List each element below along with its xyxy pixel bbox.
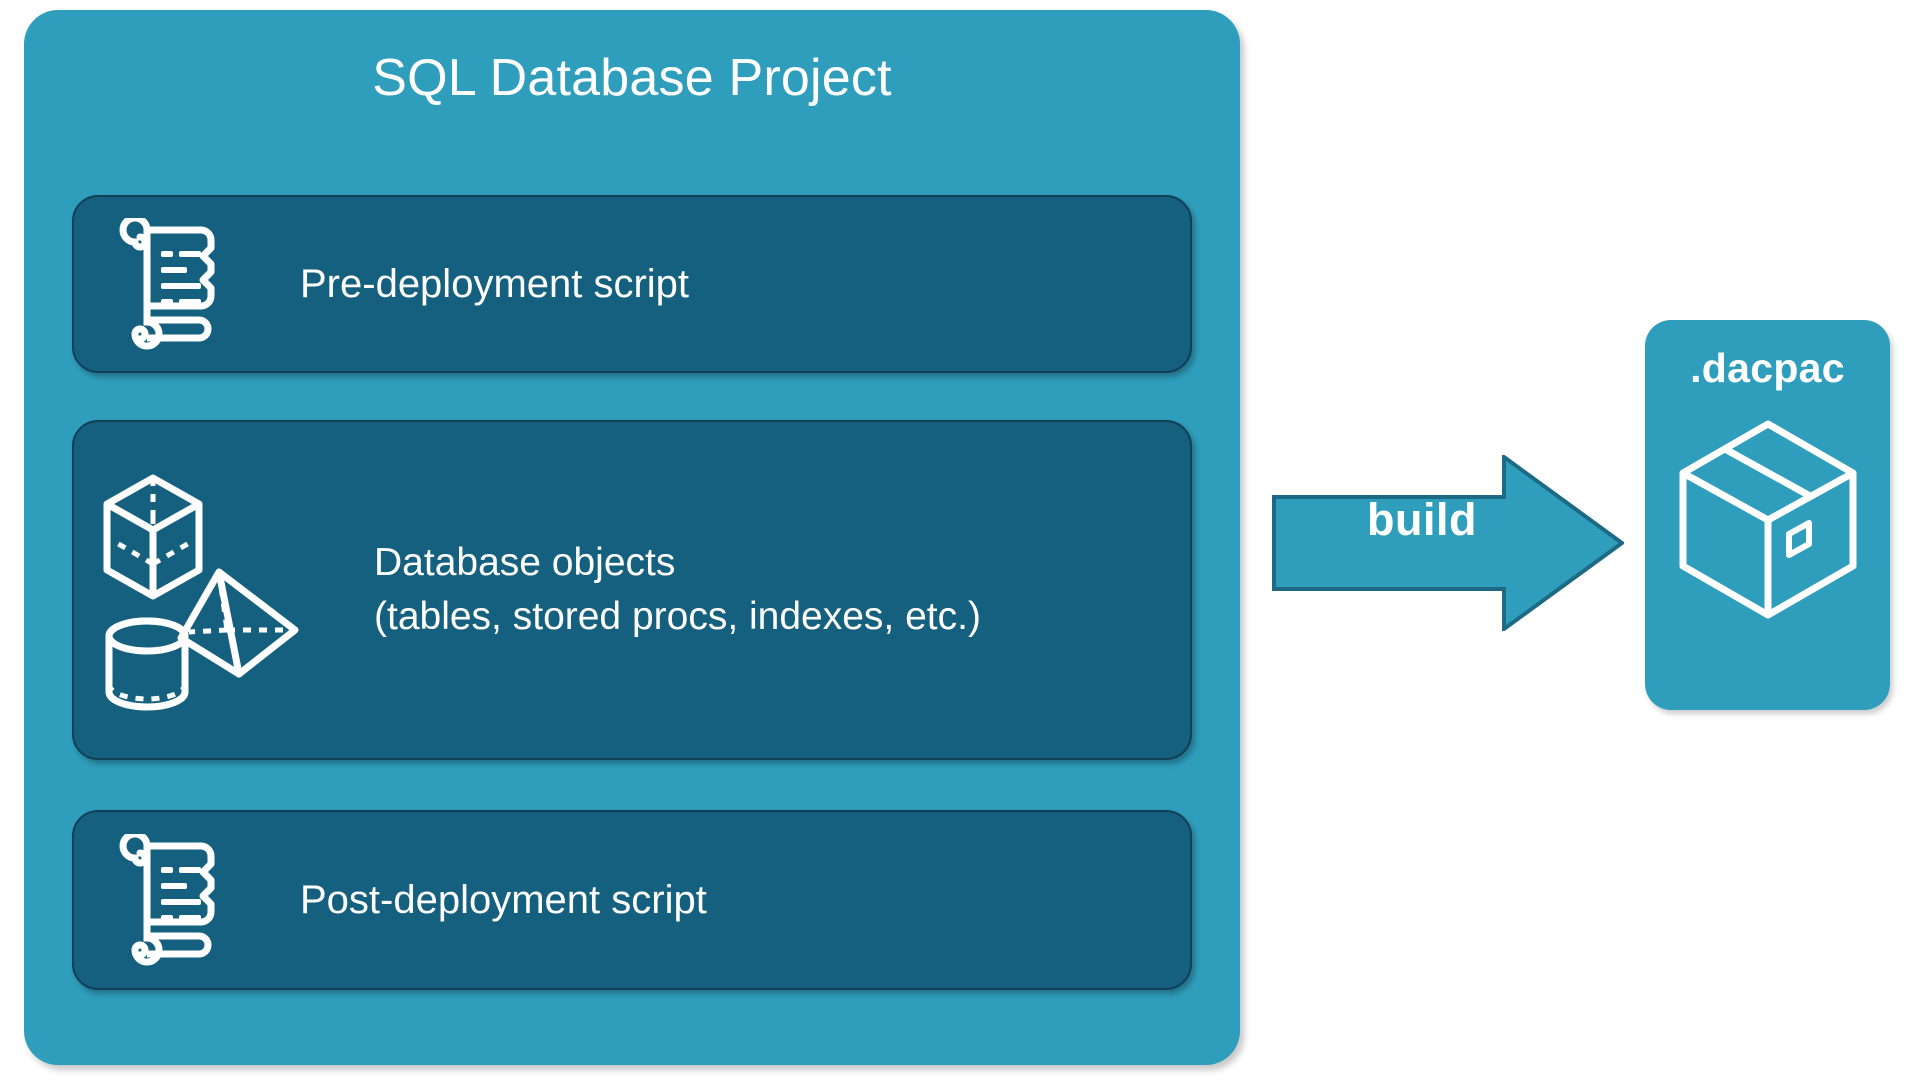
card-database-objects-label-line2: (tables, stored procs, indexes, etc.) — [374, 590, 981, 644]
dacpac-output-panel[interactable]: .dacpac — [1645, 320, 1890, 710]
card-pre-deployment[interactable]: Pre-deployment script — [72, 195, 1192, 373]
scroll-icon — [92, 834, 262, 966]
card-pre-deployment-label: Pre-deployment script — [300, 258, 689, 310]
page-title: SQL Database Project — [24, 48, 1240, 108]
scroll-icon — [92, 218, 262, 350]
build-arrow-label: build — [1322, 492, 1522, 548]
package-box-icon — [1673, 416, 1863, 621]
card-database-objects-label: Database objects (tables, stored procs, … — [374, 536, 981, 644]
dacpac-title: .dacpac — [1645, 344, 1890, 392]
card-post-deployment-label: Post-deployment script — [300, 874, 707, 926]
database-objects-icon-group — [84, 460, 334, 720]
card-database-objects-label-line1: Database objects — [374, 536, 981, 590]
diagram-canvas: SQL Database Project — [0, 0, 1920, 1080]
card-database-objects[interactable]: Database objects (tables, stored procs, … — [72, 420, 1192, 760]
card-post-deployment[interactable]: Post-deployment script — [72, 810, 1192, 990]
sql-database-project-panel: SQL Database Project — [24, 10, 1240, 1065]
